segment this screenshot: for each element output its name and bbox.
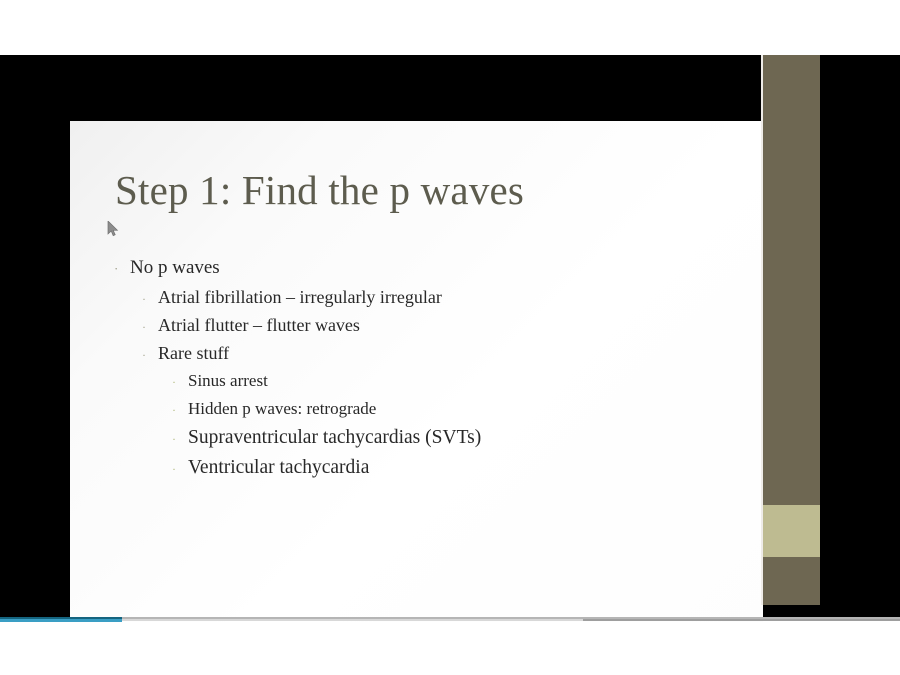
presentation-slide[interactable]: Step 1: Find the p waves · No p waves · …	[70, 121, 763, 671]
bullet-label: Rare stuff	[158, 343, 229, 364]
slide-accent-block	[763, 505, 820, 557]
bullet-item-level1: · No p waves	[114, 257, 734, 279]
screen-viewport: Step 1: Find the p waves · No p waves · …	[0, 0, 900, 675]
bullet-marker-icon: ·	[142, 293, 158, 305]
bullet-marker-icon: ·	[114, 262, 130, 275]
bullet-item-level3: · Sinus arrest	[114, 371, 734, 391]
bullet-item-level2: · Rare stuff	[114, 343, 734, 364]
video-letterbox-band[interactable]: Step 1: Find the p waves · No p waves · …	[0, 55, 900, 617]
bullet-label: No p waves	[130, 257, 220, 279]
slide-bullet-list: · No p waves · Atrial fibrillation – irr…	[114, 257, 734, 487]
page-background-top	[0, 0, 900, 55]
player-progress-track-right	[583, 619, 900, 621]
bullet-label: Atrial flutter – flutter waves	[158, 315, 360, 336]
slide-title: Step 1: Find the p waves	[115, 166, 524, 214]
bullet-marker-icon: ·	[172, 463, 188, 475]
bullet-label: Hidden p waves: retrograde	[188, 399, 376, 419]
bullet-marker-icon: ·	[172, 376, 188, 388]
bullet-marker-icon: ·	[142, 349, 158, 361]
bullet-label: Supraventricular tachycardias (SVTs)	[188, 427, 481, 449]
bullet-label: Ventricular tachycardia	[188, 457, 369, 479]
bullet-item-level2: · Atrial flutter – flutter waves	[114, 315, 734, 336]
bullet-item-level2: · Atrial fibrillation – irregularly irre…	[114, 287, 734, 308]
bullet-marker-icon: ·	[142, 321, 158, 333]
page-background-bottom	[0, 622, 900, 675]
bullet-item-level3: · Ventricular tachycardia	[114, 457, 734, 479]
bullet-label: Sinus arrest	[188, 371, 268, 391]
bullet-marker-icon: ·	[172, 404, 188, 416]
bullet-label: Atrial fibrillation – irregularly irregu…	[158, 287, 442, 308]
player-progress-track-light	[122, 619, 583, 621]
bullet-marker-icon: ·	[172, 433, 188, 445]
bullet-item-level3: · Supraventricular tachycardias (SVTs)	[114, 427, 734, 449]
bullet-item-level3: · Hidden p waves: retrograde	[114, 399, 734, 419]
